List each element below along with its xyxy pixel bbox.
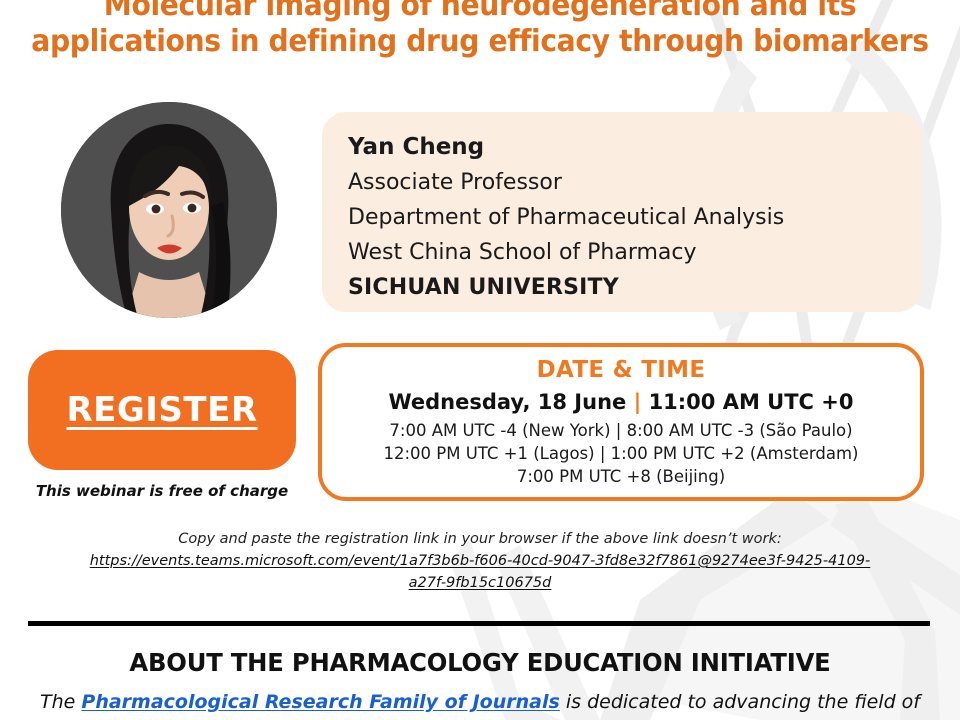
speaker-university: SICHUAN UNIVERSITY	[348, 270, 922, 305]
section-divider	[28, 621, 930, 626]
date-time-card: DATE & TIME Wednesday, 18 June | 11:00 A…	[318, 343, 924, 501]
speaker-department: Department of Pharmaceutical Analysis	[348, 200, 922, 235]
date-time-heading: DATE & TIME	[322, 355, 920, 385]
timezone-line-1: 7:00 AM UTC -4 (New York) | 8:00 AM UTC …	[322, 419, 920, 442]
webinar-title: Molecular imaging of neurodegeneration a…	[0, 0, 960, 60]
speaker-name: Yan Cheng	[348, 130, 922, 165]
title-line-2: applications in defining drug efficacy t…	[29, 24, 931, 60]
date-primary-time: 11:00 AM UTC +0	[649, 390, 854, 414]
registration-link-intro: Copy and paste the registration link in …	[30, 528, 930, 550]
timezone-line-3: 7:00 PM UTC +8 (Beijing)	[322, 465, 920, 488]
journals-link[interactable]: Pharmacological Research Family of Journ…	[81, 691, 559, 713]
date-time-primary: Wednesday, 18 June | 11:00 AM UTC +0	[322, 385, 920, 419]
about-section-heading: ABOUT THE PHARMACOLOGY EDUCATION INITIAT…	[14, 648, 945, 677]
register-button-label: REGISTER	[66, 390, 257, 430]
date-primary-date: Wednesday, 18 June	[388, 390, 626, 414]
speaker-school: West China School of Pharmacy	[348, 235, 922, 270]
about-body-before: The	[40, 691, 81, 713]
speaker-info-card: Yan Cheng Associate Professor Department…	[322, 112, 922, 312]
about-body-after: is dedicated to advancing the field of	[560, 691, 920, 713]
register-button[interactable]: REGISTER	[28, 350, 296, 470]
free-of-charge-note: This webinar is free of charge	[28, 482, 296, 500]
speaker-photo	[61, 102, 277, 318]
registration-url-line-2[interactable]: a27f-9fb15c10675d	[30, 572, 930, 594]
about-section-body: The Pharmacological Research Family of J…	[30, 688, 930, 716]
registration-url-line-1[interactable]: https://events.teams.microsoft.com/event…	[30, 550, 930, 572]
title-line-1: Molecular imaging of neurodegeneration a…	[29, 0, 931, 24]
timezone-line-2: 12:00 PM UTC +1 (Lagos) | 1:00 PM UTC +2…	[322, 442, 920, 465]
registration-link-block: Copy and paste the registration link in …	[30, 528, 930, 594]
date-time-separator: |	[634, 390, 642, 414]
portrait-illustration	[61, 102, 277, 318]
speaker-role: Associate Professor	[348, 165, 922, 200]
